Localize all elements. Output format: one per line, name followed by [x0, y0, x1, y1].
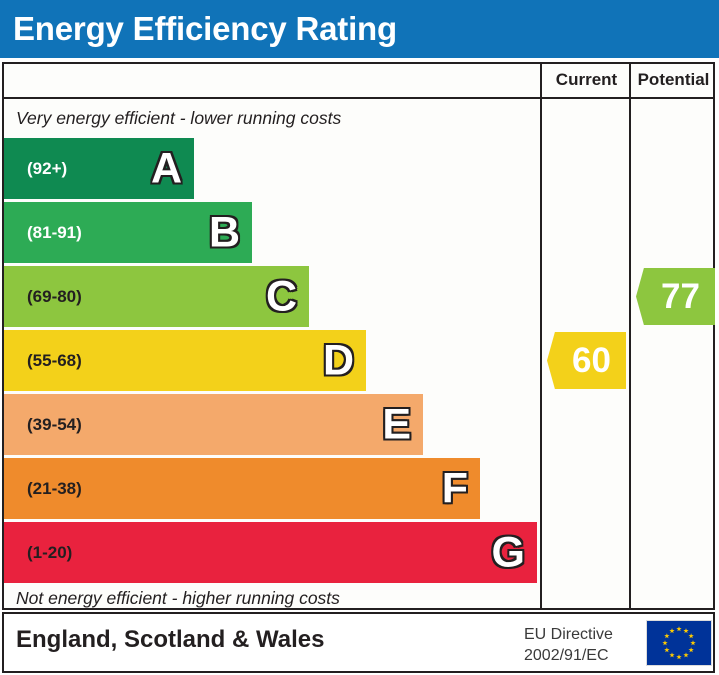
eu-star	[683, 652, 688, 657]
band-letter-b: B	[209, 211, 240, 254]
band-range-label-b: (81-91)	[27, 223, 82, 243]
eu-star	[688, 647, 693, 652]
rating-band-g: (1-20)G	[4, 522, 537, 583]
rating-band-d: (55-68)D	[4, 330, 366, 391]
rating-value-potential: 77	[651, 279, 700, 314]
band-range-label-d: (55-68)	[27, 351, 82, 371]
rating-arrow-current: 60	[547, 332, 626, 389]
column-divider-left	[540, 62, 542, 610]
eu-star	[662, 640, 667, 645]
band-range-label-f: (21-38)	[27, 479, 82, 499]
column-header-current: Current	[543, 62, 630, 98]
eu-star	[664, 647, 669, 652]
band-letter-d: D	[323, 339, 354, 382]
band-range-label-a: (92+)	[27, 159, 67, 179]
column-divider-right	[629, 62, 631, 610]
caption-efficient: Very energy efficient - lower running co…	[16, 108, 341, 129]
eu-star	[664, 633, 669, 638]
band-letter-c: C	[266, 275, 297, 318]
title-bar: Energy Efficiency Rating	[0, 0, 719, 58]
eu-star	[669, 652, 674, 657]
directive-line-1: EU Directive	[524, 624, 613, 645]
directive-line-2: 2002/91/EC	[524, 645, 613, 666]
energy-efficiency-rating-chart: Energy Efficiency Rating Current Potenti…	[0, 0, 719, 675]
eu-star	[690, 640, 695, 645]
rating-band-c: (69-80)C	[4, 266, 309, 327]
rating-arrow-potential: 77	[636, 268, 715, 325]
caption-inefficient: Not energy efficient - higher running co…	[16, 588, 340, 609]
footer-directive-label: EU Directive 2002/91/EC	[524, 624, 613, 666]
rating-band-b: (81-91)B	[4, 202, 252, 263]
rating-band-a: (92+)A	[4, 138, 194, 199]
footer-region-label: England, Scotland & Wales	[16, 626, 324, 654]
rating-band-e: (39-54)E	[4, 394, 423, 455]
eu-star	[683, 628, 688, 633]
eu-flag-stars	[647, 621, 711, 665]
page-title: Energy Efficiency Rating	[13, 7, 397, 51]
band-range-label-c: (69-80)	[27, 287, 82, 307]
rating-value-current: 60	[562, 343, 611, 378]
column-header-potential: Potential	[632, 62, 715, 98]
eu-star	[688, 633, 693, 638]
band-letter-e: E	[382, 403, 411, 446]
band-letter-f: F	[442, 467, 468, 510]
band-letter-a: A	[151, 147, 182, 190]
rating-band-f: (21-38)F	[4, 458, 480, 519]
band-range-label-g: (1-20)	[27, 543, 72, 563]
eu-star	[669, 628, 674, 633]
eu-star	[676, 654, 681, 659]
band-range-label-e: (39-54)	[27, 415, 82, 435]
eu-star	[676, 626, 681, 631]
band-letter-g: G	[492, 531, 525, 574]
eu-flag-icon	[646, 620, 712, 666]
